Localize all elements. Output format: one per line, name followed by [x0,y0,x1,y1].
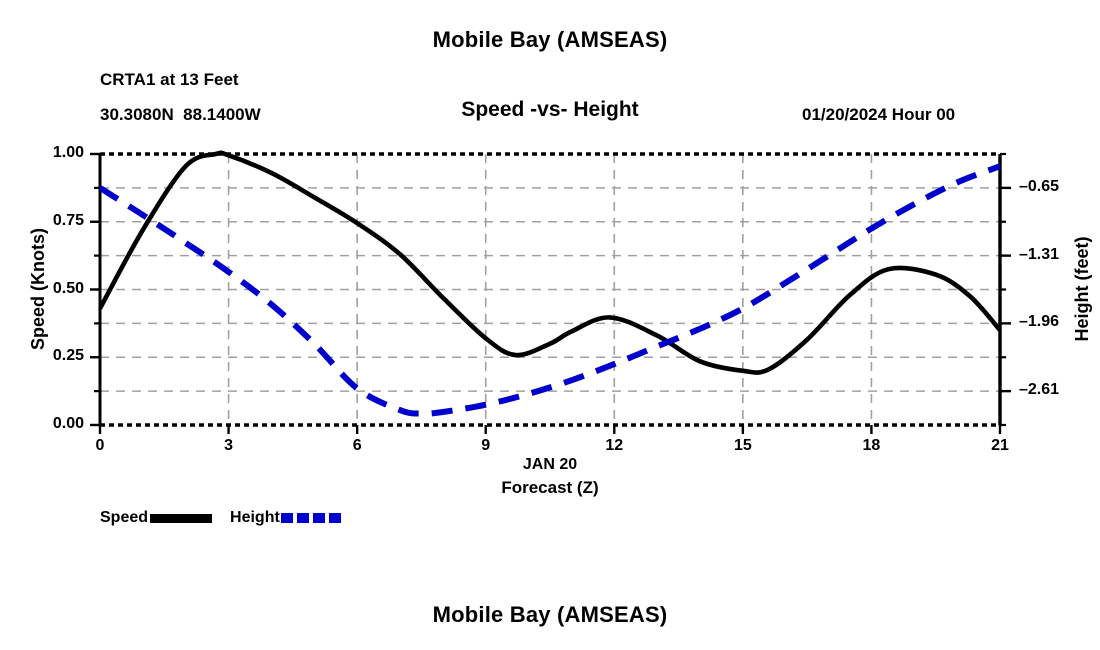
x-axis-tick-label: 3 [199,437,259,455]
x-axis-tick-label: 9 [456,437,516,455]
legend-label-speed: Speed [100,509,148,527]
y-axis-right-tick-label: –0.65 [1019,178,1059,196]
series-line-speed [100,153,1000,373]
x-axis-tick-label: 21 [970,437,1030,455]
x-axis-tick-label: 12 [584,437,644,455]
x-axis-tick-label: 6 [327,437,387,455]
legend-label-height: Height [230,509,280,527]
x-axis-tick-label: 0 [70,437,130,455]
page-footer-title: Mobile Bay (AMSEAS) [0,602,1100,628]
chart-plot-area [0,0,1100,650]
y-axis-left-tick-label: 0.50 [53,280,84,298]
x-axis-tick-label: 15 [713,437,773,455]
y-axis-left-tick-label: 0.00 [53,415,84,433]
legend-entry-height: Height [230,509,343,527]
y-axis-left-tick-label: 0.25 [53,347,84,365]
y-axis-left-tick-label: 0.75 [53,212,84,230]
legend-entry-speed: Speed [100,509,212,527]
y-axis-right-tick-label: –2.61 [1019,381,1059,399]
y-axis-right-tick-label: –1.31 [1019,246,1059,264]
y-axis-left-tick-label: 1.00 [53,144,84,162]
chart-legend: Speed Height [100,508,361,528]
x-axis-tick-label: 18 [841,437,901,455]
chart-page: Mobile Bay (AMSEAS) CRTA1 at 13 Feet 30.… [0,0,1100,650]
y-axis-right-tick-label: –1.96 [1019,313,1059,331]
legend-swatch-height-icon [281,513,343,523]
legend-swatch-speed-icon [150,514,212,523]
